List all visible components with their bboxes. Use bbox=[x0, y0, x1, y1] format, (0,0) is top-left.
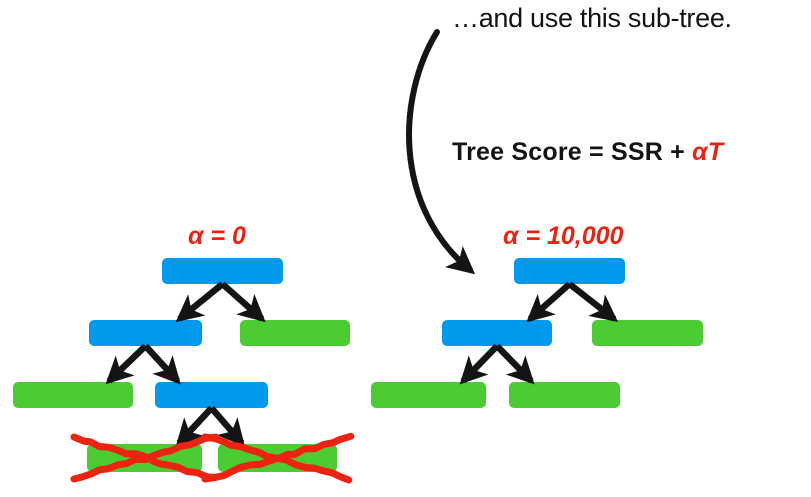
tree-alpha-0-node-root bbox=[162, 258, 283, 284]
tree-alpha-0-edge-root-to-level2-right bbox=[223, 284, 263, 319]
tree-alpha-0-node-leaf-right bbox=[218, 444, 337, 472]
tree-alpha-0-node-level3-left bbox=[13, 382, 133, 408]
tree-alpha-0-edge-level2-left-to-level3-right bbox=[146, 346, 178, 381]
tree-alpha-10000-node-leaf-left bbox=[371, 382, 486, 408]
tree-alpha-10000-node-level2-left bbox=[442, 320, 552, 346]
tree-alpha-0-node-level2-left bbox=[89, 320, 202, 346]
tree-alpha-10000-edge-root-to-level2-left bbox=[530, 284, 570, 319]
alpha-label-left-tree: α = 0 bbox=[188, 222, 246, 251]
tree-alpha-0-node-level3-right bbox=[155, 382, 268, 408]
tree-edges-layer bbox=[0, 0, 811, 497]
formula-penalty-term: αT bbox=[692, 138, 723, 166]
tree-alpha-10000-node-root bbox=[514, 258, 625, 284]
diagram-canvas: …and use this sub-tree. Tree Score = SSR… bbox=[0, 0, 811, 497]
alpha-label-right-tree: α = 10,000 bbox=[503, 222, 623, 251]
tree-alpha-10000-node-leaf-right bbox=[509, 382, 620, 408]
tree-alpha-0-node-level2-right bbox=[240, 320, 350, 346]
tree-alpha-10000-edge-level2-left-to-leaf-right bbox=[497, 346, 531, 381]
tree-alpha-10000-edge-level2-left-to-leaf-left bbox=[463, 346, 497, 381]
tree-alpha-0-node-leaf-left bbox=[87, 444, 202, 472]
tree-alpha-0-edge-level2-left-to-level3-left bbox=[109, 346, 146, 381]
tree-alpha-0-edge-root-to-level2-left bbox=[179, 284, 222, 319]
tree-alpha-10000-edge-root-to-level2-right bbox=[570, 284, 615, 319]
tree-alpha-0-edge-level3-right-to-leaf-left bbox=[179, 408, 212, 443]
tree-alpha-10000-node-level2-right bbox=[592, 320, 703, 346]
tree-score-formula: Tree Score = SSR + αT bbox=[452, 138, 723, 167]
annotation-text: …and use this sub-tree. bbox=[452, 3, 732, 34]
tree-alpha-0-edge-level3-right-to-leaf-right bbox=[212, 408, 242, 443]
formula-lhs: Tree Score = SSR + bbox=[452, 138, 692, 166]
